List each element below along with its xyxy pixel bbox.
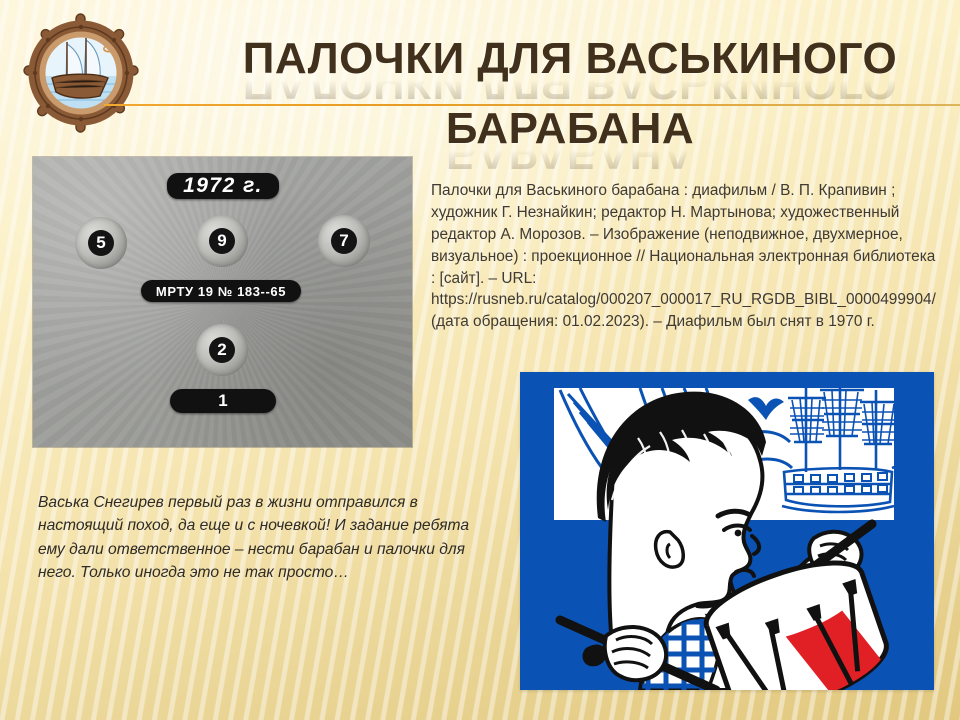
panel-dial-7-value: 7: [331, 228, 357, 254]
filmstrip-frame-boy-with-drum: [520, 372, 934, 690]
panel-bottom-label: 1: [170, 389, 276, 413]
panel-dial-2-value: 2: [209, 337, 235, 363]
panel-dial-7: 7: [318, 215, 370, 267]
annotation-text: Васька Снегирев первый раз в жизни отпра…: [38, 491, 482, 585]
filmstrip-canister-label-photo: 1972 г. 5 9 7 МРТУ 19 № 183--65 2 1: [33, 157, 412, 447]
panel-dial-5-value: 5: [88, 230, 114, 256]
title-line-1: Палочки для Васькиного: [190, 38, 950, 80]
ship-wheel-emblem: [22, 12, 140, 134]
panel-year-label: 1972 г.: [167, 173, 279, 199]
panel-dial-9: 9: [196, 215, 248, 267]
panel-dial-9-value: 9: [209, 228, 235, 254]
panel-dial-5: 5: [75, 217, 127, 269]
slide-canvas: Палочки для Васькиного Палочки для Васьк…: [0, 0, 960, 720]
bibliographic-description: Палочки для Васькиного барабана : диафил…: [431, 180, 943, 333]
page-title: Палочки для Васькиного Палочки для Васьк…: [190, 38, 950, 174]
title-line-2: барабана: [190, 108, 950, 150]
panel-standard-label: МРТУ 19 № 183--65: [141, 280, 301, 302]
title-line-1-reflection: Палочки для Васькиного: [190, 78, 950, 104]
panel-dial-2: 2: [196, 324, 248, 376]
title-divider-rule: [104, 104, 960, 106]
title-line-1-wrap: Палочки для Васькиного Палочки для Васьк…: [190, 38, 950, 104]
